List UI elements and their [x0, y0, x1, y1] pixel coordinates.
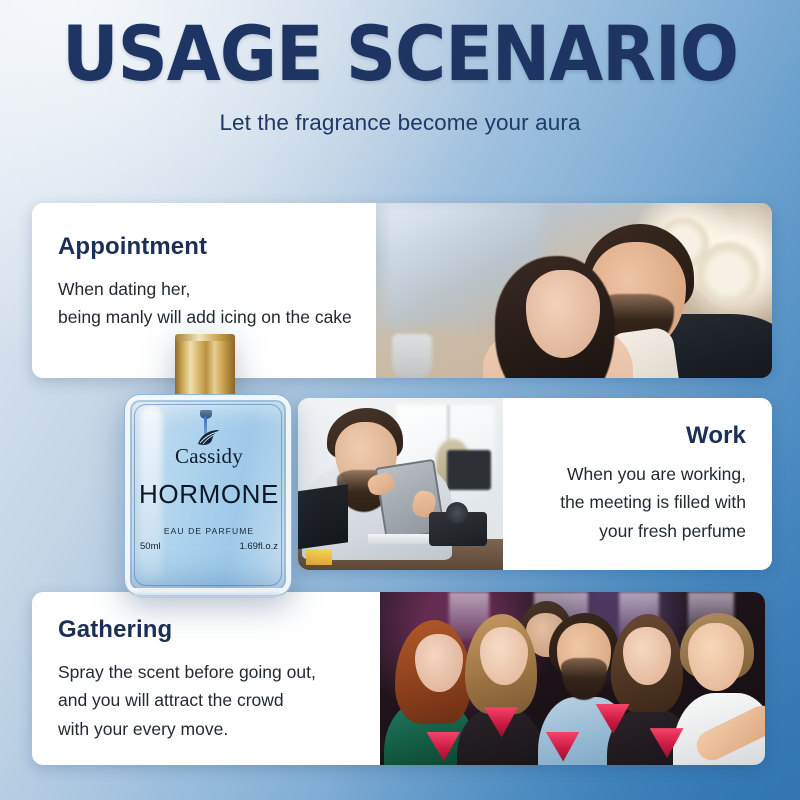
bottle-cap	[175, 336, 235, 402]
bottle-fragrance-type: EAU DE PARFUME	[118, 526, 300, 536]
photo-person-face	[623, 627, 671, 685]
perfume-bottle: Cassidy HORMONE EAU DE PARFUME 50ml 1.69…	[118, 336, 300, 598]
card-body-line: Spray the scent before going out,	[58, 658, 358, 686]
bottle-volume-row: 50ml 1.69fl.o.z	[140, 541, 278, 552]
poster-header: USAGE SCENARIO Let the fragrance become …	[0, 0, 800, 136]
card-body-gathering: Spray the scent before going out, and yo…	[58, 658, 358, 743]
photo-camera	[429, 512, 487, 546]
card-body-line: and you will attract the crowd	[58, 686, 358, 714]
card-body-line: with your every move.	[58, 715, 358, 743]
card-body-work: When you are working, the meeting is fil…	[519, 460, 746, 545]
card-body-appointment: When dating her, being manly will add ic…	[58, 275, 354, 332]
scenario-card-gathering[interactable]: Gathering Spray the scent before going o…	[32, 592, 765, 765]
card-body-line: When you are working,	[519, 460, 746, 488]
card-body-line: being manly will add icing on the cake	[58, 303, 354, 331]
bottle-base-edge	[132, 588, 282, 598]
bottle-product-name: HORMONE	[118, 479, 300, 510]
card-text-block: Gathering Spray the scent before going o…	[32, 592, 380, 765]
page-title: USAGE SCENARIO	[0, 0, 800, 92]
photo-monitor	[447, 450, 491, 490]
bottle-brand-name: Cassidy	[118, 444, 300, 469]
photo-man-working-tablet	[298, 398, 503, 570]
photo-party-selfie-group	[380, 592, 765, 765]
photo-bokeh-light	[696, 242, 760, 306]
bottle-volume-ml: 50ml	[140, 541, 161, 552]
usage-scenario-poster: USAGE SCENARIO Let the fragrance become …	[0, 0, 800, 800]
photo-romantic-couple-dinner	[376, 203, 772, 378]
card-body-line: When dating her,	[58, 275, 354, 303]
card-text-block: Work When you are working, the meeting i…	[503, 398, 772, 570]
photo-person-face	[688, 623, 744, 691]
scenario-card-work[interactable]: Work When you are working, the meeting i…	[298, 398, 772, 570]
photo-laptop	[298, 484, 348, 550]
photo-person-beard	[561, 658, 607, 700]
card-heading-work: Work	[519, 422, 746, 450]
photo-wine-glass	[392, 334, 432, 378]
bottle-cap-top	[175, 334, 235, 341]
card-body-line: your fresh perfume	[519, 517, 746, 545]
card-body-line: the meeting is filled with	[519, 488, 746, 516]
card-heading-appointment: Appointment	[58, 233, 354, 261]
photo-person-face	[415, 634, 463, 692]
bottle-volume-oz: 1.69fl.o.z	[239, 541, 278, 552]
photo-papers	[368, 534, 430, 544]
card-heading-gathering: Gathering	[58, 616, 358, 644]
photo-sticky-notes	[306, 549, 332, 565]
page-subtitle: Let the fragrance become your aura	[0, 92, 800, 136]
